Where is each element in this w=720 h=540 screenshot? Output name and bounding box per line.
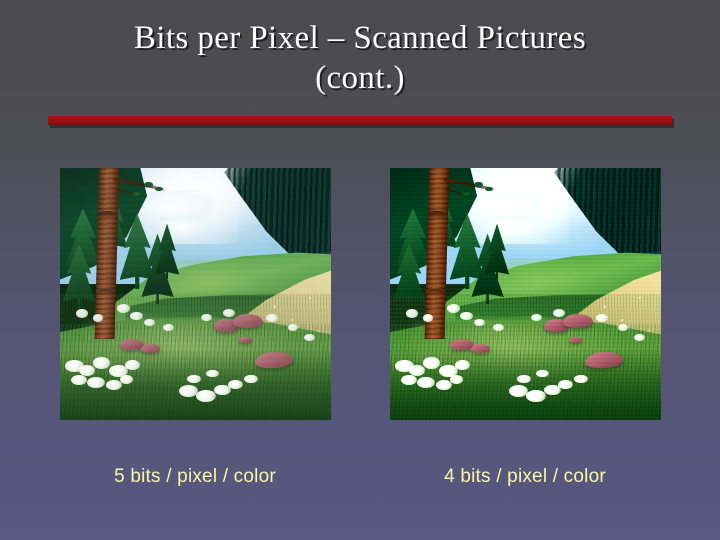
figure-caption-4bit: 4 bits / pixel / color — [385, 466, 665, 488]
figure-caption-5bit: 5 bits / pixel / color — [55, 466, 335, 488]
quantization-texture — [60, 168, 331, 420]
meadow-scene — [390, 168, 661, 420]
meadow-scene — [60, 168, 331, 420]
presentation-slide: Bits per Pixel – Scanned Pictures (cont.… — [0, 0, 720, 540]
slide-title: Bits per Pixel – Scanned Pictures (cont.… — [40, 18, 680, 98]
title-divider — [48, 116, 672, 128]
figure-image-5bit — [60, 168, 331, 420]
title-divider-bar — [48, 116, 672, 125]
quantization-texture — [390, 168, 661, 420]
figure-image-4bit — [390, 168, 661, 420]
